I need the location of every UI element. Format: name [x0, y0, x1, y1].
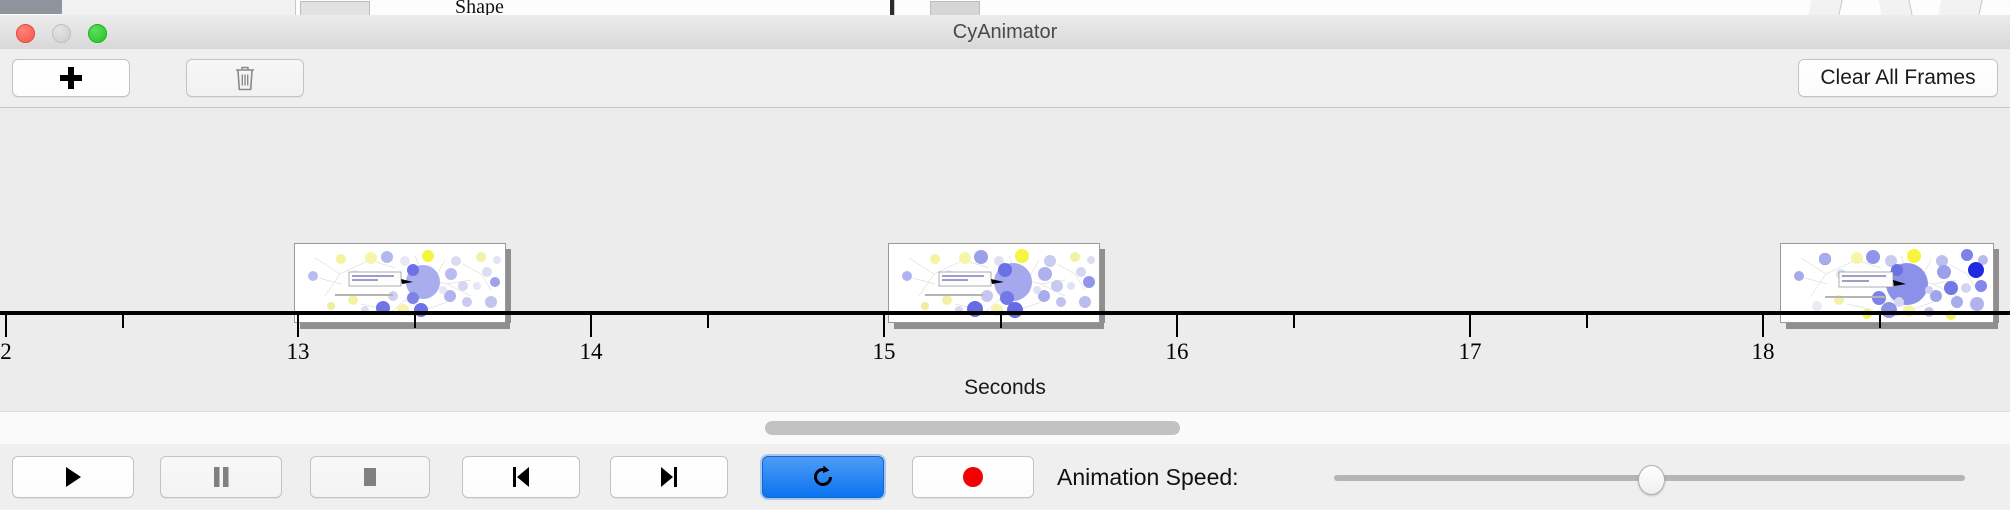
- axis-tick-major: [297, 315, 299, 337]
- axis-label: 17: [1459, 339, 1482, 365]
- axis-tick-major: [1469, 315, 1471, 337]
- background-tab: [300, 1, 370, 15]
- background-segment: [240, 0, 296, 15]
- background-segment: [1878, 0, 1912, 15]
- axis-label: 14: [580, 339, 603, 365]
- skip-forward-icon: [658, 465, 680, 489]
- record-button[interactable]: [912, 456, 1034, 498]
- background-segment: [1938, 0, 1982, 15]
- axis-tick-minor: [1879, 315, 1881, 328]
- toolbar: Clear All Frames: [0, 49, 2010, 108]
- stop-button[interactable]: [310, 456, 430, 498]
- background-segment: [152, 0, 193, 15]
- trash-icon: [234, 65, 256, 91]
- axis-tick-major: [590, 315, 592, 337]
- axis-label: 16: [1166, 339, 1189, 365]
- background-window-strip: Shape: [0, 0, 2010, 16]
- stop-icon: [360, 465, 380, 489]
- animation-speed-label: Animation Speed:: [1057, 456, 1239, 498]
- delete-frame-button[interactable]: [186, 59, 304, 97]
- axis-title: Seconds: [0, 376, 2010, 400]
- timeline-panel[interactable]: 2 13 14 15 16 17 18 Seconds: [0, 108, 2010, 411]
- add-frame-button[interactable]: [12, 59, 130, 97]
- background-tab: [930, 1, 980, 15]
- axis-label: 13: [287, 339, 310, 365]
- title-bar[interactable]: CyAnimator: [0, 15, 2010, 50]
- loop-icon: [810, 464, 836, 490]
- window-title: CyAnimator: [0, 15, 2010, 49]
- background-window-header: [0, 0, 62, 14]
- axis-tick-minor: [707, 315, 709, 328]
- axis-tick-minor: [1000, 315, 1002, 328]
- pause-icon: [211, 465, 231, 489]
- background-segment: [890, 0, 895, 15]
- axis-tick-minor: [414, 315, 416, 328]
- timeline-axis: [0, 311, 2010, 315]
- axis-tick-major: [1762, 315, 1764, 337]
- axis-tick-minor: [1586, 315, 1588, 328]
- axis-label: 18: [1752, 339, 1775, 365]
- axis-tick-major: [883, 315, 885, 337]
- next-frame-button[interactable]: [610, 456, 728, 498]
- play-icon: [62, 465, 84, 489]
- background-segment: [1808, 0, 1842, 15]
- axis-label: 2: [0, 339, 12, 365]
- cyanimator-window: Shape CyAnimator Clear All Frames: [0, 0, 2010, 510]
- record-icon: [961, 465, 985, 489]
- axis-tick-minor: [122, 315, 124, 328]
- axis-tick-major: [5, 315, 7, 337]
- play-button[interactable]: [12, 456, 134, 498]
- loop-button[interactable]: [762, 456, 884, 498]
- pause-button[interactable]: [160, 456, 282, 498]
- clear-all-frames-button[interactable]: Clear All Frames: [1798, 59, 1998, 97]
- playback-toolbar: Animation Speed:: [0, 444, 2010, 510]
- background-segment: [62, 0, 153, 15]
- axis-tick-major: [1176, 315, 1178, 337]
- axis-label: 15: [873, 339, 896, 365]
- timeline-scrollbar[interactable]: [0, 411, 2010, 445]
- scrollbar-thumb[interactable]: [765, 421, 1180, 435]
- background-segment: [192, 0, 241, 15]
- skip-back-icon: [510, 465, 532, 489]
- background-window-label: Shape: [455, 0, 504, 16]
- animation-speed-slider-knob[interactable]: [1638, 465, 1665, 495]
- prev-frame-button[interactable]: [462, 456, 580, 498]
- axis-tick-minor: [1293, 315, 1295, 328]
- plus-icon: [60, 67, 82, 89]
